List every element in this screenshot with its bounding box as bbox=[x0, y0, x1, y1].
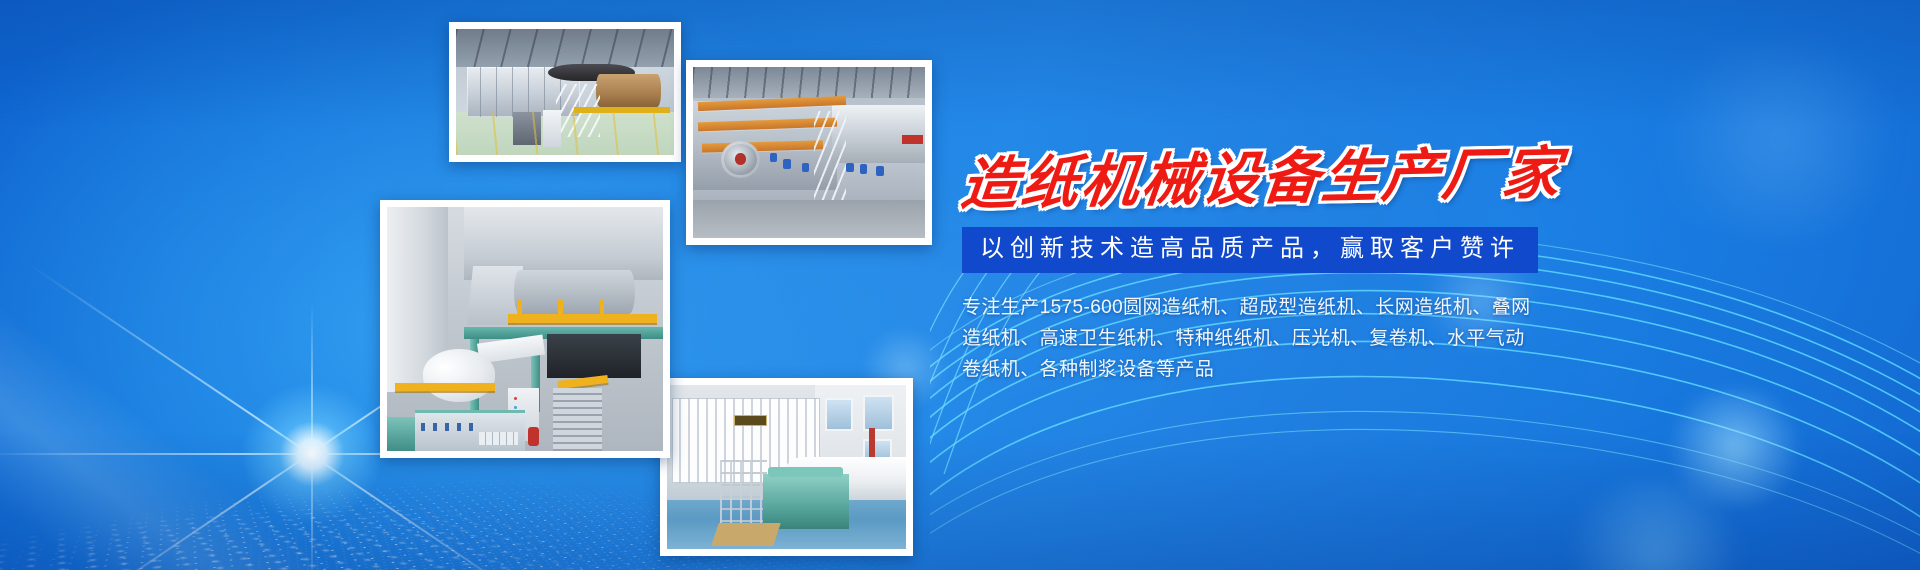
roof-truss bbox=[456, 29, 674, 67]
banner-headline: 造纸机械设备生产厂家 bbox=[958, 144, 1585, 213]
roof-structure bbox=[693, 67, 925, 98]
yellow-rail bbox=[508, 314, 657, 322]
red-sign bbox=[902, 135, 923, 144]
fire-extinguisher bbox=[528, 427, 539, 447]
console-buttons bbox=[421, 423, 481, 431]
blue-motor bbox=[846, 163, 853, 173]
paper-roll bbox=[596, 74, 661, 107]
reel-drum bbox=[721, 141, 760, 179]
blue-motor bbox=[876, 166, 883, 176]
banner-description: 专注生产1575-600圆网造纸机、超成型造纸机、长网造纸机、叠网造纸机、高速卫… bbox=[962, 293, 1542, 385]
concrete-floor bbox=[693, 200, 925, 238]
photo-paper-machine-factory-hall bbox=[449, 22, 681, 162]
mint-green-machine bbox=[763, 474, 849, 530]
yellow-rail bbox=[395, 383, 494, 391]
photo-dryer-section-and-paper-reel bbox=[660, 378, 913, 556]
banner-subtitle-band: 以创新技术造高品质产品，赢取客户赞许 bbox=[962, 227, 1538, 273]
blue-motor bbox=[783, 159, 790, 169]
photo-paper-machine-production-line bbox=[686, 60, 932, 245]
photo-collage bbox=[0, 0, 1100, 570]
floor-markings bbox=[456, 112, 674, 155]
rail-post bbox=[558, 300, 563, 320]
cylinder-housing bbox=[514, 270, 635, 314]
dark-machine-section bbox=[547, 334, 641, 378]
steel-frame bbox=[720, 460, 768, 532]
wooden-pallet bbox=[711, 523, 781, 546]
machine-nameplate bbox=[734, 415, 767, 426]
banner-root: 造纸机械设备生产厂家 以创新技术造高品质产品，赢取客户赞许 专注生产1575-6… bbox=[0, 0, 1920, 570]
access-stair bbox=[553, 388, 603, 451]
photo-paper-machine-with-control-console bbox=[380, 200, 670, 458]
blue-motor bbox=[802, 163, 809, 173]
window bbox=[863, 395, 894, 431]
rail-post bbox=[600, 300, 605, 320]
dryer-hood bbox=[832, 105, 925, 163]
blue-motor bbox=[860, 164, 867, 174]
console-keypad bbox=[479, 432, 519, 445]
paper-roll bbox=[423, 349, 495, 403]
operator-console bbox=[415, 410, 525, 451]
window bbox=[825, 398, 854, 431]
rail-post bbox=[517, 300, 522, 320]
banner-text-block: 造纸机械设备生产厂家 以创新技术造高品质产品，赢取客户赞许 专注生产1575-6… bbox=[962, 150, 1582, 386]
blue-motor bbox=[770, 153, 777, 163]
banner-subtitle: 以创新技术造高品质产品，赢取客户赞许 bbox=[980, 236, 1520, 262]
